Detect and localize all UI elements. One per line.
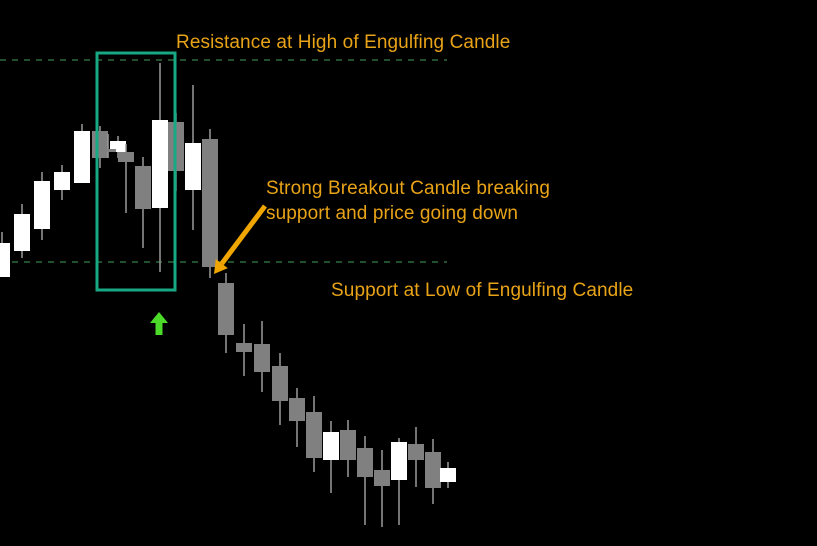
candlestick-chart-screen: Resistance at High of Engulfing Candle S… xyxy=(0,0,817,546)
chart-canvas xyxy=(0,0,817,546)
candle-body-bearish xyxy=(425,452,441,488)
candle-body-bullish xyxy=(34,181,50,229)
candle-body-bullish xyxy=(14,214,30,251)
breakout-annotation-line2: support and price going down xyxy=(266,203,518,224)
candle-body-bullish xyxy=(440,468,456,482)
candle-body-bullish xyxy=(152,120,168,208)
breakout-annotation-line1: Strong Breakout Candle breaking xyxy=(266,178,550,199)
candle-body-bearish xyxy=(118,152,134,162)
resistance-annotation-label: Resistance at High of Engulfing Candle xyxy=(176,30,510,55)
candle[interactable] xyxy=(74,124,90,183)
candle-body-bullish xyxy=(185,143,201,190)
candle-body-bearish xyxy=(306,412,322,458)
chart-background xyxy=(0,0,817,546)
candle-body-bearish xyxy=(408,444,424,460)
candle-body-bullish xyxy=(74,131,90,183)
candle-body-bullish xyxy=(323,432,339,460)
candle-body-bearish xyxy=(218,283,234,335)
breakout-annotation-label: Strong Breakout Candle breakingsupport a… xyxy=(266,176,550,226)
candle[interactable] xyxy=(202,129,218,278)
candle-body-bearish xyxy=(340,430,356,460)
candle-body-bearish xyxy=(289,398,305,421)
candle-body-bearish xyxy=(272,366,288,401)
candle-body-bearish xyxy=(202,139,218,267)
candle-body-bearish xyxy=(254,344,270,372)
candle-body-bearish xyxy=(374,470,390,486)
candle-body-bullish xyxy=(54,172,70,190)
candle-body-bearish xyxy=(357,448,373,477)
candle-body-bearish xyxy=(92,131,108,158)
candle-body-bullish xyxy=(391,442,407,480)
candle-body-bullish xyxy=(0,243,10,277)
candle-body-bearish xyxy=(236,343,252,352)
candle-body-bearish xyxy=(135,166,151,209)
candle-body-bearish xyxy=(100,149,116,152)
support-annotation-label: Support at Low of Engulfing Candle xyxy=(331,278,633,303)
